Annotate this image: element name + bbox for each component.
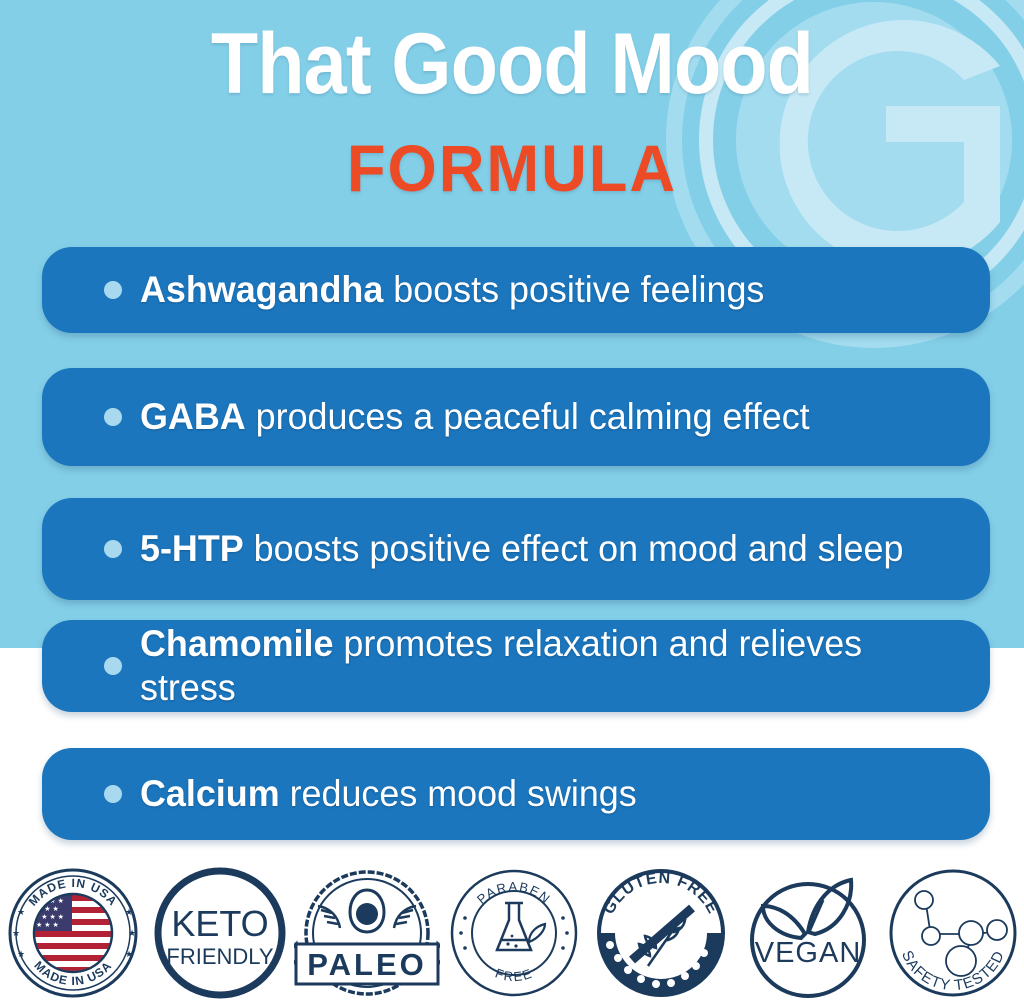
benefit-text: Calcium reduces mood swings: [140, 772, 637, 816]
benefit-text: GABA produces a peaceful calming effect: [140, 395, 810, 439]
bullet-dot-icon: [104, 785, 122, 803]
benefit-item[interactable]: Chamomile promotes relaxation and reliev…: [42, 620, 990, 712]
svg-text:GLUTEN FREE: GLUTEN FREE: [601, 870, 722, 917]
badge-text-bottom: FREE: [493, 965, 535, 984]
badge-gluten-free: GLUTEN FREE: [588, 858, 734, 1008]
benefit-ingredient: 5-HTP: [140, 528, 244, 569]
benefit-item[interactable]: 5-HTP boosts positive effect on mood and…: [42, 498, 990, 600]
page-title: That Good Mood: [51, 16, 973, 112]
benefit-text: 5-HTP boosts positive effect on mood and…: [140, 527, 903, 571]
benefit-description: reduces mood swings: [280, 773, 637, 814]
benefit-item[interactable]: GABA produces a peaceful calming effect: [42, 368, 990, 466]
benefit-item[interactable]: Ashwagandha boosts positive feelings: [42, 247, 990, 333]
badge-made-in-usa: ★ ★ ★ ★ ★ ★ ★ ★ ★ ★ ★ ★ ★ ★ ★★ ★★ ★★ MAD…: [0, 858, 146, 1008]
infographic-canvas: That Good Mood FORMULA Ashwagandha boost…: [0, 0, 1024, 1008]
badge-safety-tested: SAFETY TESTED: [880, 858, 1024, 1008]
bullet-dot-icon: [104, 540, 122, 558]
badge-text-top: GLUTEN FREE: [601, 870, 722, 917]
badge-text-bottom: VEGAN: [755, 937, 862, 969]
page-subtitle: FORMULA: [20, 132, 1003, 204]
bullet-dot-icon: [104, 281, 122, 299]
benefit-text: Chamomile promotes relaxation and reliev…: [140, 622, 947, 710]
benefit-description: produces a peaceful calming effect: [246, 396, 810, 437]
badge-paleo: PALEO: [294, 858, 440, 1008]
badge-vegan: VEGAN: [735, 858, 881, 1008]
svg-text:★: ★: [128, 928, 136, 938]
benefit-description: boosts positive effect on mood and sleep: [244, 528, 904, 569]
badge-paraben-free: PARABEN FREE: [441, 858, 587, 1008]
benefit-description: boosts positive feelings: [383, 269, 764, 310]
benefit-text: Ashwagandha boosts positive feelings: [140, 268, 764, 312]
certification-badges-row: ★ ★ ★ ★ ★ ★ ★ ★ ★ ★ ★ ★ ★ ★ ★★ ★★ ★★ MAD…: [0, 858, 1024, 1008]
benefit-ingredient: GABA: [140, 396, 246, 437]
svg-text:★ ★ ★: ★ ★ ★: [36, 921, 59, 929]
svg-text:★: ★: [17, 907, 25, 917]
svg-text:★: ★: [125, 949, 133, 959]
header: That Good Mood FORMULA: [0, 0, 1024, 230]
svg-text:FREE: FREE: [493, 965, 535, 984]
badge-text-bottom: PALEO: [307, 947, 427, 982]
bullet-dot-icon: [104, 657, 122, 675]
svg-text:★: ★: [17, 949, 25, 959]
benefit-item[interactable]: Calcium reduces mood swings: [42, 748, 990, 840]
benefit-ingredient: Calcium: [140, 773, 280, 814]
svg-text:★: ★: [12, 928, 20, 938]
svg-text:★: ★: [125, 907, 133, 917]
badge-keto-friendly: KETO FRIENDLY: [147, 858, 293, 1008]
badge-text-top: KETO: [171, 903, 268, 944]
bullet-dot-icon: [104, 408, 122, 426]
benefit-ingredient: Chamomile: [140, 623, 333, 664]
badge-text-bottom: FRIENDLY: [166, 944, 273, 969]
benefit-ingredient: Ashwagandha: [140, 269, 383, 310]
